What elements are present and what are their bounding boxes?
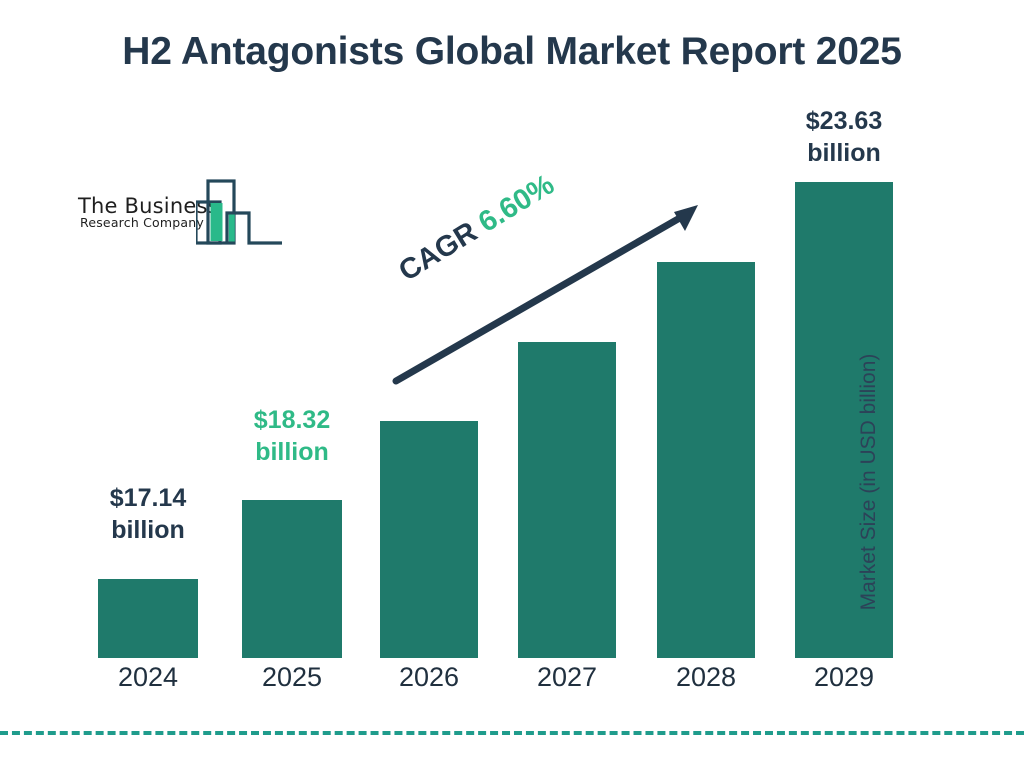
value-label-2024-amount: $17.14 — [88, 482, 208, 514]
bar-2025 — [242, 500, 342, 658]
x-axis-label-2028: 2028 — [656, 662, 756, 693]
bar-2026 — [380, 421, 478, 658]
bar-2027 — [518, 342, 616, 658]
value-label-2029-unit: billion — [784, 137, 904, 169]
bar-2028 — [657, 262, 755, 658]
bar-2024 — [98, 579, 198, 658]
value-label-2025-amount: $18.32 — [232, 404, 352, 436]
y-axis-title: Market Size (in USD billion) — [857, 322, 881, 642]
value-label-2024-unit: billion — [88, 514, 208, 546]
value-label-2024: $17.14 billion — [88, 482, 208, 546]
x-axis-label-2027: 2027 — [517, 662, 617, 693]
value-label-2029-amount: $23.63 — [784, 105, 904, 137]
x-axis-label-2024: 2024 — [98, 662, 198, 693]
value-label-2025: $18.32 billion — [232, 404, 352, 468]
footer-divider — [0, 731, 1024, 735]
x-axis-label-2025: 2025 — [242, 662, 342, 693]
value-label-2025-unit: billion — [232, 436, 352, 468]
x-axis-label-2029: 2029 — [794, 662, 894, 693]
chart-page: H2 Antagonists Global Market Report 2025… — [0, 0, 1024, 768]
x-axis-label-2026: 2026 — [379, 662, 479, 693]
value-label-2029: $23.63 billion — [784, 105, 904, 169]
